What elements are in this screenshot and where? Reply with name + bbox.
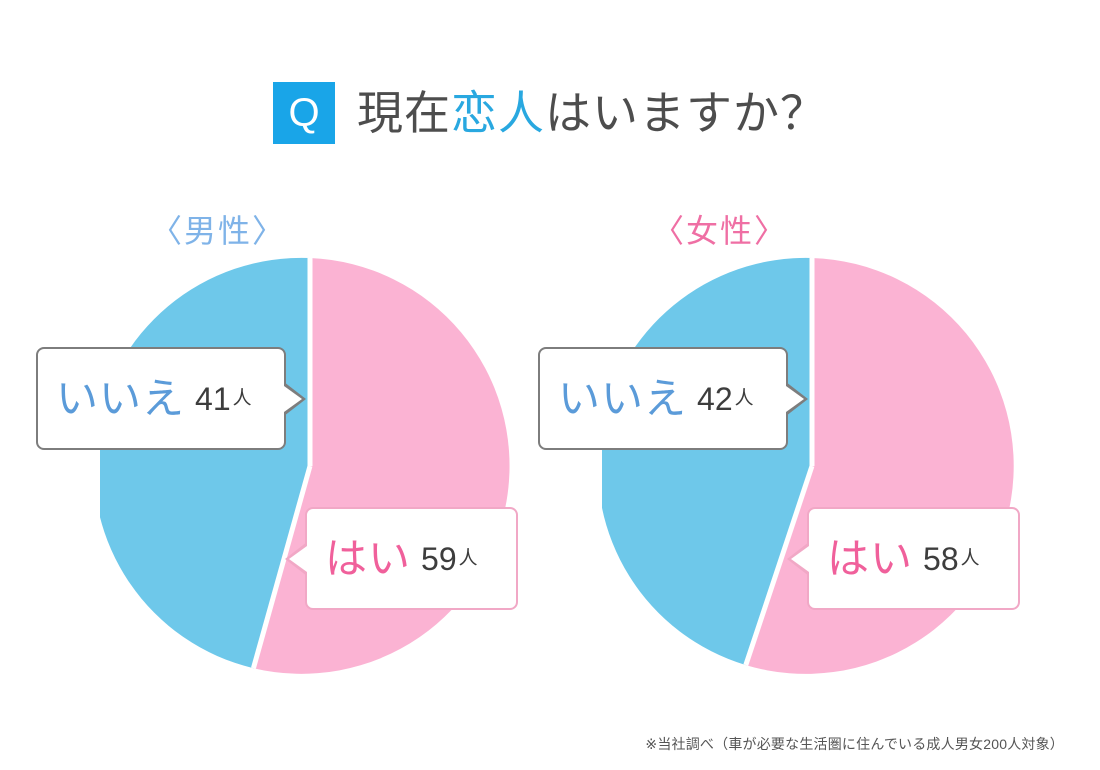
survey-footnote: ※当社調べ（車が必要な生活圏に住んでいる成人男女200人対象）: [645, 734, 1064, 754]
question-text: 現在恋人はいますか？: [357, 82, 827, 144]
pie-chart-male: 〈男性〉 いいえ 41 人 はい 59 人: [58, 206, 558, 686]
pie-svg-male: [100, 256, 520, 676]
question-text-before: 現在: [357, 87, 451, 139]
pie-chart-female: 〈女性〉 いいえ 42 人 はい 58 人: [560, 206, 1060, 686]
pie-graphic-male: [100, 256, 520, 676]
callout-no-count-female: 42: [697, 383, 733, 415]
callout-yes-female[interactable]: はい 58 人: [807, 507, 1020, 610]
callout-no-answer-female: いいえ: [558, 378, 687, 420]
pie-graphic-female: [602, 256, 1022, 676]
callout-no-female[interactable]: いいえ 42 人: [538, 347, 788, 450]
callout-no-count-male: 41: [195, 383, 231, 415]
callout-yes-count-female: 58: [923, 543, 959, 575]
callout-no-unit-female: 人: [735, 389, 754, 408]
callout-no-answer-male: いいえ: [56, 378, 185, 420]
pie-svg-female: [602, 256, 1022, 676]
callout-no-male[interactable]: いいえ 41 人: [36, 347, 286, 450]
callout-yes-unit-female: 人: [961, 549, 980, 568]
callout-yes-male[interactable]: はい 59 人: [305, 507, 518, 610]
callout-yes-count-male: 59: [421, 543, 457, 575]
callout-yes-answer-male: はい: [325, 538, 411, 580]
gender-label-female: 〈女性〉: [560, 206, 880, 252]
callout-yes-unit-male: 人: [459, 549, 478, 568]
question-text-highlight: 恋人: [451, 87, 545, 139]
callout-yes-answer-female: はい: [827, 538, 913, 580]
question-badge: Q: [273, 82, 335, 144]
gender-label-male: 〈男性〉: [58, 206, 378, 252]
question-text-after: はいますか？: [545, 87, 827, 139]
callout-no-unit-male: 人: [233, 389, 252, 408]
page-title: Q 現在恋人はいますか？: [0, 82, 1100, 144]
